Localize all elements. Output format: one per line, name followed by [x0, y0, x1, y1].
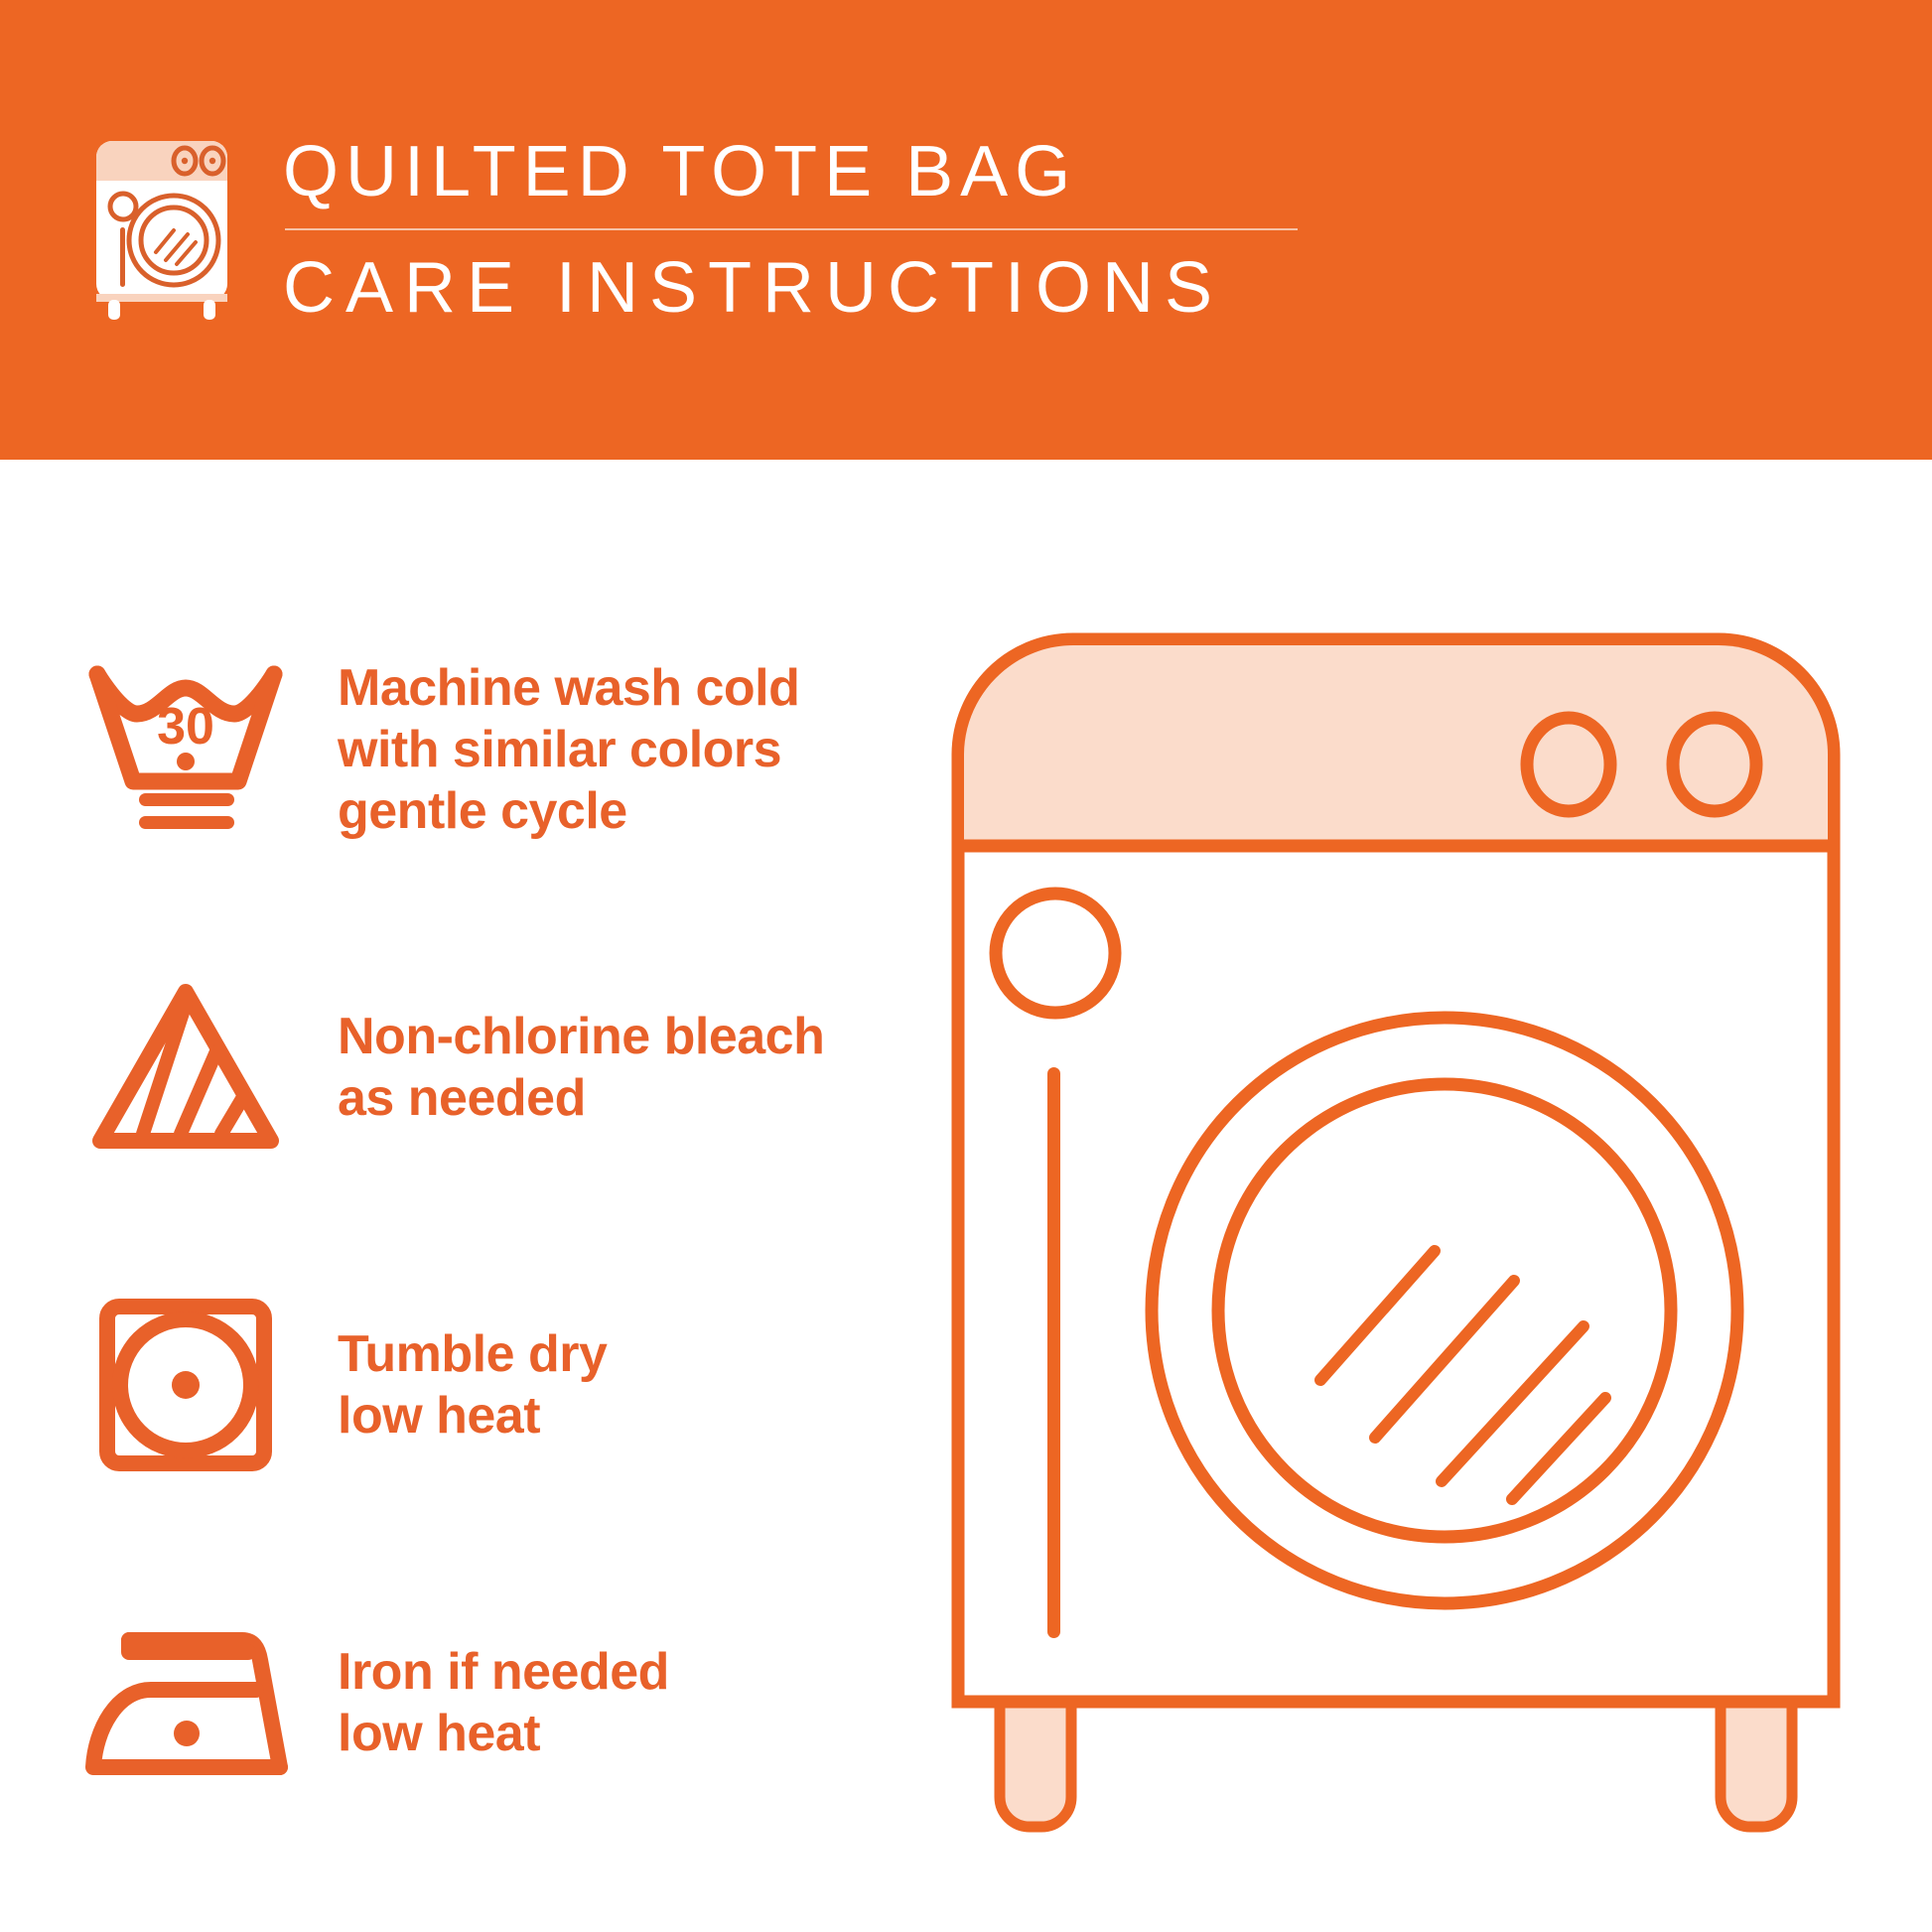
bleach-triangle-icon	[71, 978, 300, 1157]
header-banner: QUILTED TOTE BAG CARE INSTRUCTIONS	[0, 0, 1932, 460]
header-text-group: QUILTED TOTE BAG CARE INSTRUCTIONS	[283, 127, 1335, 332]
page-subtitle: CARE INSTRUCTIONS	[283, 244, 1335, 332]
care-instruction-list: 30 Machine wash cold with similar colors…	[0, 635, 933, 1906]
care-row-iron: Iron if needed low heat	[0, 1588, 933, 1817]
care-label-bleach: Non-chlorine bleach as needed	[338, 1006, 824, 1129]
care-row-tumble-dry: Tumble dry low heat	[0, 1271, 933, 1499]
wash-tub-30-icon: 30	[71, 658, 300, 842]
care-label-iron: Iron if needed low heat	[338, 1641, 669, 1764]
care-label-machine-wash: Machine wash cold with similar colors ge…	[338, 657, 799, 842]
tumble-dry-low-icon	[71, 1296, 300, 1474]
title-divider	[285, 228, 1298, 230]
iron-low-heat-icon	[71, 1618, 300, 1787]
care-label-tumble-dry: Tumble dry low heat	[338, 1323, 607, 1447]
wash-temperature-value: 30	[157, 698, 214, 756]
care-row-bleach: Non-chlorine bleach as needed	[0, 953, 933, 1181]
washing-machine-icon	[84, 131, 239, 322]
washing-machine-illustration	[948, 625, 1862, 1876]
page-title: QUILTED TOTE BAG	[283, 127, 1335, 216]
care-row-machine-wash: 30 Machine wash cold with similar colors…	[0, 635, 933, 864]
